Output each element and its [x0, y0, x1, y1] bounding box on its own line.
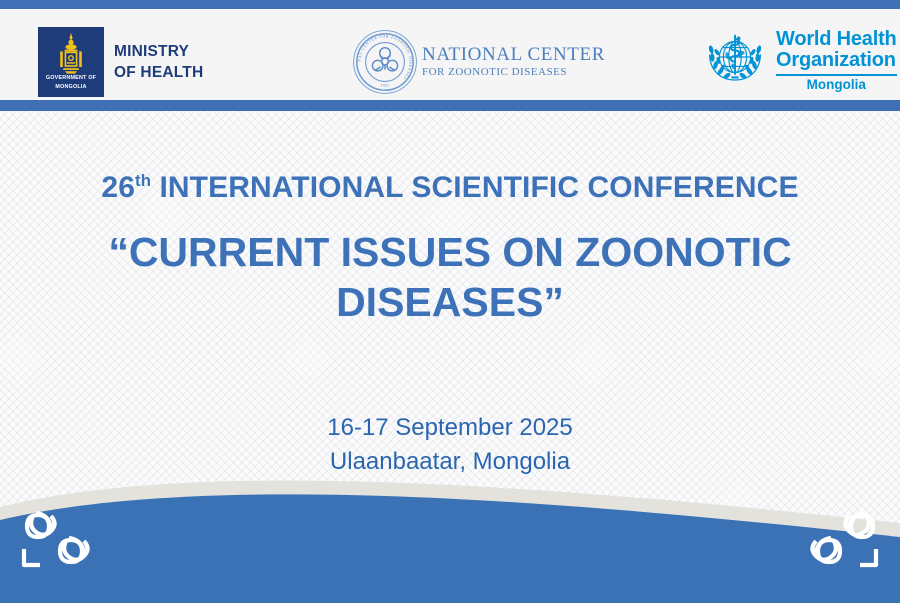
theme-line-1: “CURRENT ISSUES ON ZOONOTIC [0, 227, 900, 277]
who-country-label: Mongolia [776, 78, 897, 93]
conference-number-line: 26th INTERNATIONAL SCIENTIFIC CONFERENCE [0, 171, 900, 205]
logo-national-center-zoonotic-diseases: NATIONAL CENTER FOR ZOONOTIC DISEASES 19… [352, 29, 605, 95]
biohazard-seal-svg: NATIONAL CENTER FOR ZOONOTIC DISEASES 19… [352, 29, 418, 95]
biohazard-seal-icon: NATIONAL CENTER FOR ZOONOTIC DISEASES 19… [352, 29, 418, 95]
who-emblem-svg [702, 30, 768, 92]
top-accent-bar [0, 0, 900, 9]
logo-world-health-organization: World Health Organization Mongolia [702, 29, 897, 93]
logo-ministry-of-health: GOVERNMENT OF MONGOLIA MINISTRY OF HEALT… [38, 27, 203, 97]
theme-line-2: DISEASES” [0, 277, 900, 327]
conference-number: 26 [101, 171, 135, 204]
who-divider-rule [776, 74, 897, 76]
conference-ordinal-suffix: th [135, 171, 151, 190]
conference-title-slide: GOVERNMENT OF MONGOLIA MINISTRY OF HEALT… [0, 0, 900, 603]
ministry-of-health-wordmark: MINISTRY OF HEALTH [114, 41, 203, 84]
ministry-line-2: OF HEALTH [114, 62, 203, 83]
who-line-1: World Health [776, 29, 897, 50]
mongolia-soyombo-emblem-icon: GOVERNMENT OF MONGOLIA [38, 27, 104, 97]
ncz-line-2: FOR ZOONOTIC DISEASES [422, 66, 605, 80]
ministry-line-1: MINISTRY [114, 41, 203, 62]
conference-title-text: INTERNATIONAL SCIENTIFIC CONFERENCE [159, 171, 798, 204]
emblem-caption-government: GOVERNMENT OF [38, 75, 104, 81]
header-divider-bar [0, 100, 900, 111]
soyombo-icon [56, 32, 86, 78]
headline-block: 26th INTERNATIONAL SCIENTIFIC CONFERENCE… [0, 171, 900, 328]
slide-body: 26th INTERNATIONAL SCIENTIFIC CONFERENCE… [0, 111, 900, 603]
who-line-2: Organization [776, 50, 897, 71]
bottom-wave-decoration [0, 463, 900, 603]
event-dates: 16-17 September 2025 [0, 411, 900, 445]
logo-header-band: GOVERNMENT OF MONGOLIA MINISTRY OF HEALT… [0, 9, 900, 100]
svg-text:1951: 1951 [381, 84, 389, 88]
who-emblem-icon [702, 30, 768, 92]
ncz-line-1: NATIONAL CENTER [422, 45, 605, 65]
ncz-wordmark: NATIONAL CENTER FOR ZOONOTIC DISEASES [422, 45, 605, 80]
emblem-caption-mongolia: MONGOLIA [38, 84, 104, 90]
mongolian-ulzii-knot-ornament-left [16, 503, 102, 575]
conference-theme: “CURRENT ISSUES ON ZOONOTIC DISEASES” [0, 227, 900, 328]
mongolian-ulzii-knot-ornament-right [798, 503, 884, 575]
who-wordmark: World Health Organization Mongolia [776, 29, 897, 93]
